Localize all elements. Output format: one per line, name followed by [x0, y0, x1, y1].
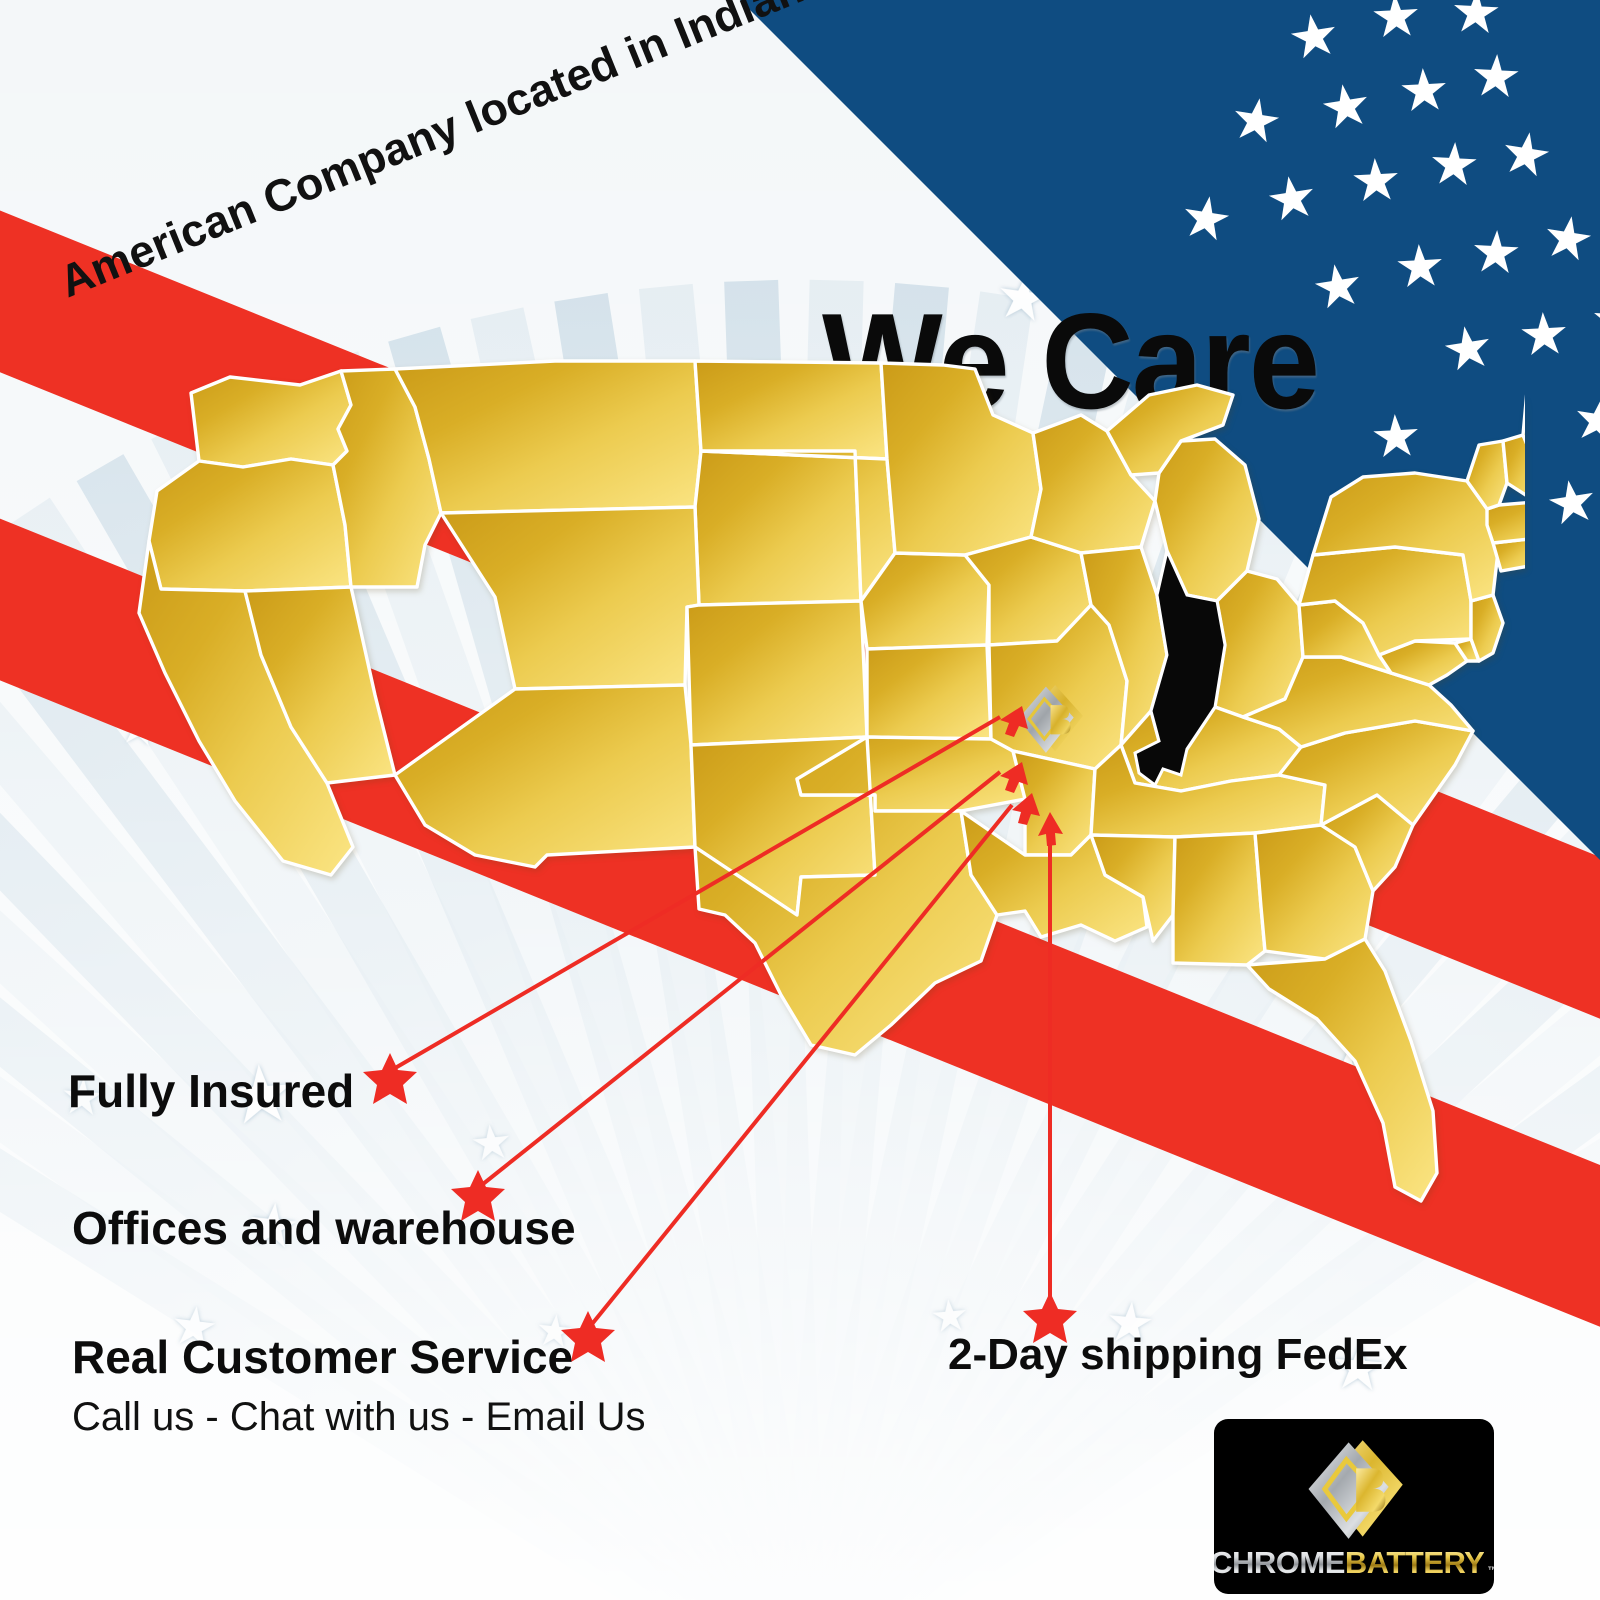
callout-contact-methods: Call us - Chat with us - Email Us — [72, 1395, 645, 1440]
flag-star-icon: ★ — [1589, 291, 1600, 352]
chrome-battery-logo[interactable]: CHROMEBATTERY™ — [1214, 1419, 1494, 1594]
flag-star-icon: ★ — [1538, 206, 1598, 271]
flag-star-icon: ★ — [1449, 0, 1504, 43]
flag-star-icon: ★ — [1369, 0, 1424, 47]
promotional-poster: ★★★★★★★★★★★★★★★★★★ ★★★★★★★★★★★★★★★★★★★★★… — [0, 0, 1600, 1600]
usa-map — [95, 355, 1525, 1255]
flag-star-icon: ★ — [1542, 470, 1600, 535]
logo-wordmark: CHROMEBATTERY™ — [1214, 1545, 1494, 1581]
callout-fully-insured: Fully Insured — [68, 1064, 354, 1118]
flag-star-icon: ★ — [1496, 122, 1556, 187]
flag-star-icon: ★ — [1393, 237, 1448, 298]
flag-star-icon: ★ — [1349, 151, 1404, 212]
flag-star-icon: ★ — [1262, 166, 1322, 231]
flag-star-icon: ★ — [1226, 88, 1286, 153]
flag-star-icon: ★ — [1176, 186, 1236, 251]
callout-real-customer-service: Real Customer Service — [72, 1330, 573, 1384]
flag-star-icon: ★ — [1316, 74, 1376, 139]
flag-star-icon: ★ — [1427, 135, 1482, 196]
flag-star-icon: ★ — [1397, 61, 1452, 122]
callout-offices-warehouse: Offices and warehouse — [72, 1201, 576, 1255]
cb-emblem-on-indiana — [1010, 682, 1088, 756]
flag-star-icon: ★ — [1568, 388, 1600, 453]
flag-star-icon: ★ — [1284, 4, 1344, 69]
flag-star-icon: ★ — [1469, 47, 1524, 108]
logo-word-battery: BATTERY — [1345, 1545, 1484, 1581]
flag-star-icon: ★ — [1469, 223, 1524, 284]
callout-two-day-shipping: 2-Day shipping FedEx — [948, 1330, 1408, 1380]
trademark-symbol: ™ — [1487, 1565, 1494, 1577]
cb-diamond-emblem-icon — [1299, 1437, 1409, 1541]
logo-word-chrome: CHROME — [1214, 1545, 1345, 1581]
